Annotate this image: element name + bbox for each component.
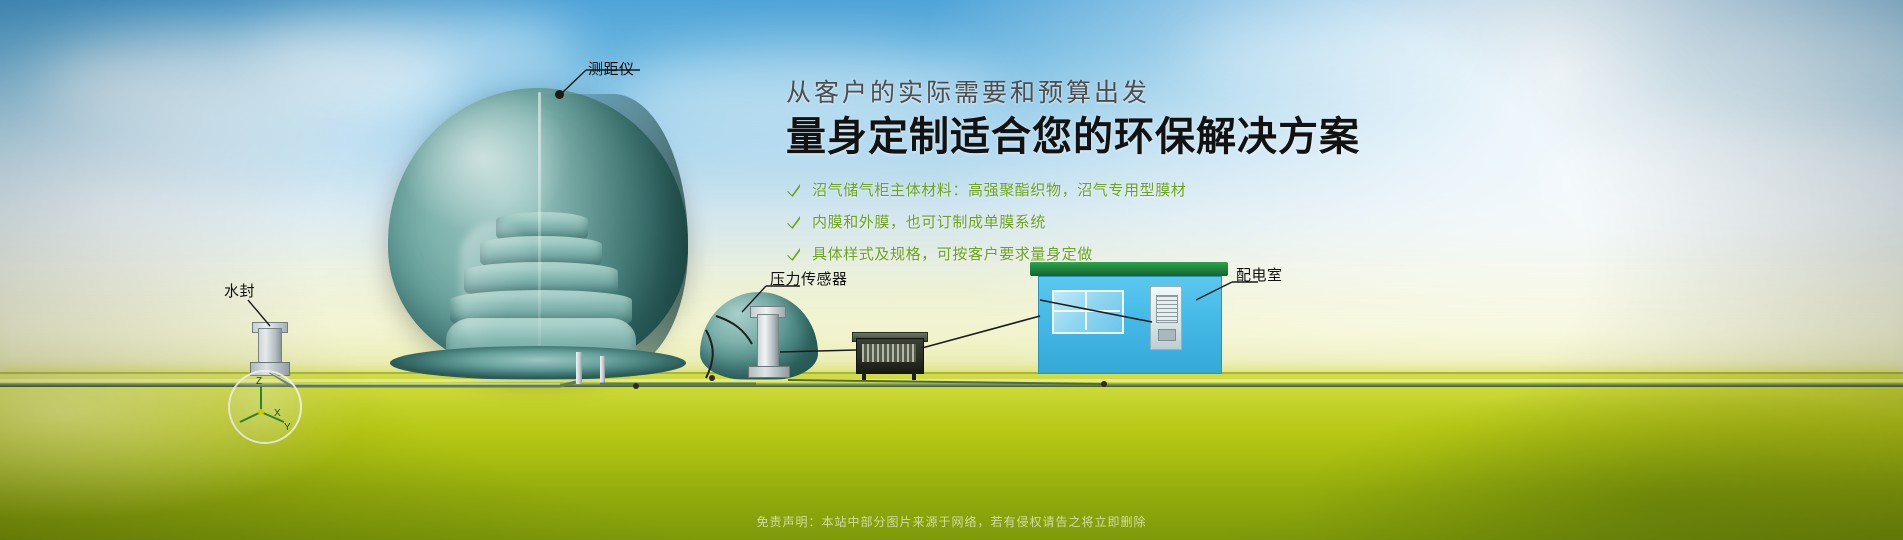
rangefinder-sensor-icon — [555, 90, 564, 99]
vertical-pipe — [576, 352, 582, 384]
marketing-copy: 从客户的实际需要和预算出发 量身定制适合您的环保解决方案 沼气储气柜主体材料：高… — [786, 78, 1426, 275]
house-door — [1150, 286, 1182, 350]
vertical-pipe — [600, 356, 605, 384]
axis-gizmo: Z X Y — [228, 370, 298, 440]
dome-base — [390, 346, 686, 380]
check-mark-icon — [786, 214, 802, 230]
banner-stage: 测距仪 水封 压力传感器 配电室 Z X Y 从客户的实际需要和预算出发 量身定… — [0, 0, 1903, 540]
list-item: 内膜和外膜，也可订制成单膜系统 — [786, 211, 1426, 232]
dome-rim — [538, 92, 541, 366]
cloud — [250, 10, 580, 90]
door-knob-icon — [1158, 329, 1176, 341]
svg-text:X: X — [274, 408, 281, 419]
compressor-grill — [862, 344, 916, 362]
banner-headline: 量身定制适合您的环保解决方案 — [786, 114, 1426, 161]
banner-kicker: 从客户的实际需要和预算出发 — [786, 78, 1426, 108]
list-item-label: 具体样式及规格，可按客户要求量身定做 — [812, 243, 1093, 264]
disclaimer-text: 免责声明：本站中部分图片来源于网络，若有侵权请告之将立即删除 — [0, 513, 1903, 530]
check-mark-icon — [786, 246, 802, 262]
label-water-seal: 水封 — [224, 280, 255, 301]
check-mark-icon — [786, 182, 802, 198]
list-item-label: 内膜和外膜，也可订制成单膜系统 — [812, 211, 1046, 232]
pressure-valve-base — [748, 366, 790, 378]
membrane-highlight — [460, 222, 530, 352]
gas-holder-dome — [388, 88, 688, 373]
list-item: 具体样式及规格，可按客户要求量身定做 — [786, 243, 1426, 264]
compressor-leg — [912, 372, 916, 380]
pressure-valve-unit — [757, 314, 779, 372]
list-item: 沼气储气柜主体材料：高强聚酯织物，沼气专用型膜材 — [786, 179, 1426, 200]
house-window — [1052, 290, 1124, 334]
power-distribution-room — [1038, 262, 1220, 372]
compressor-leg — [862, 372, 866, 380]
label-rangefinder: 测距仪 — [588, 58, 635, 79]
svg-text:Y: Y — [284, 422, 291, 433]
list-item-label: 沼气储气柜主体材料：高强聚酯织物，沼气专用型膜材 — [812, 179, 1186, 200]
feature-list: 沼气储气柜主体材料：高强聚酯织物，沼气专用型膜材 内膜和外膜，也可订制成单膜系统… — [786, 179, 1426, 264]
door-panel-icon — [1156, 295, 1178, 323]
svg-text:Z: Z — [256, 376, 262, 387]
